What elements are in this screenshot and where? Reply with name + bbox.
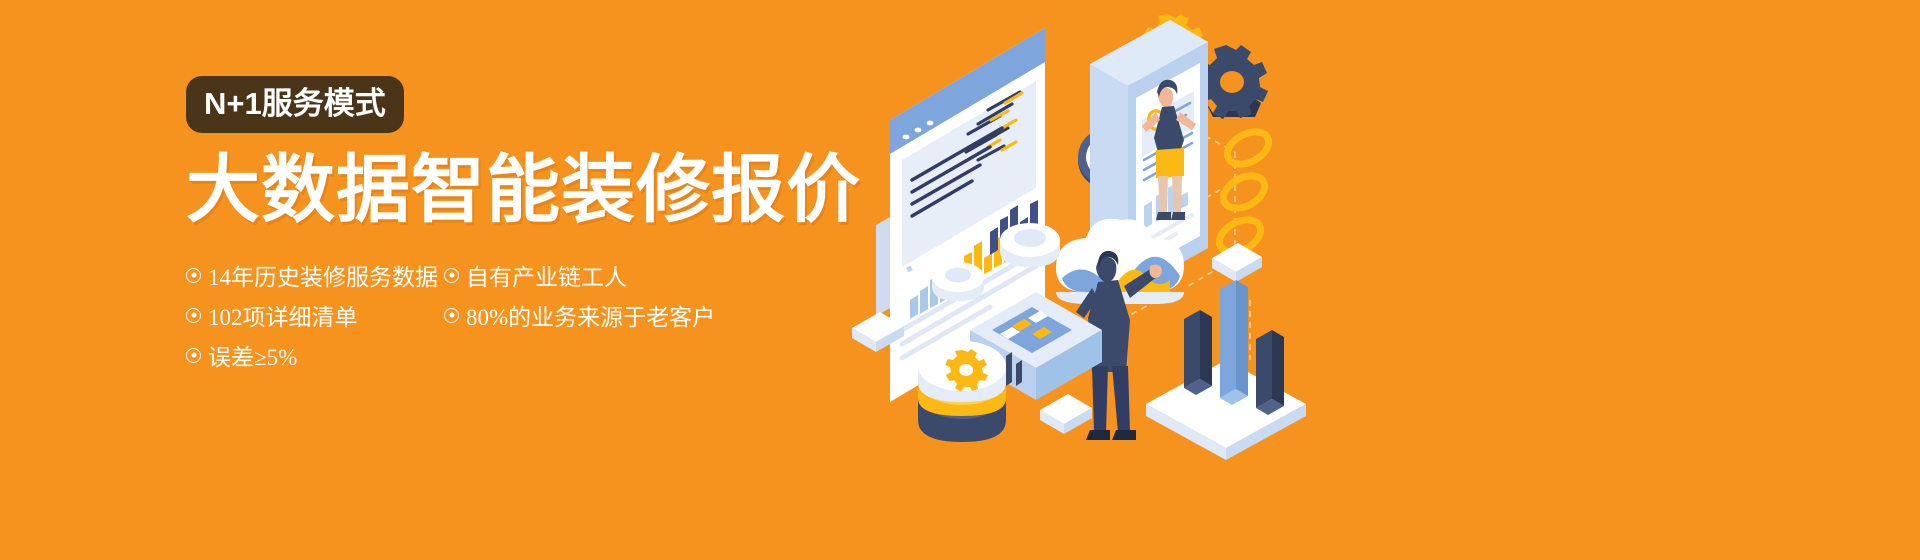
list-item: 80%的业务来源于老客户 xyxy=(444,298,886,332)
service-model-badge: N+1服务模式 xyxy=(186,76,404,133)
bullet-dot-icon xyxy=(186,268,201,283)
hero-text-block: N+1服务模式 大数据智能装修报价 14年历史装修服务数据 自有产业链工人 10… xyxy=(186,76,886,375)
isometric-illustration xyxy=(840,0,1360,560)
list-item: 102项详细清单 xyxy=(186,298,444,332)
promo-banner: N+1服务模式 大数据智能装修报价 14年历史装修服务数据 自有产业链工人 10… xyxy=(0,0,1920,560)
floating-cards-2 xyxy=(1040,394,1092,434)
list-item: 误差≥5% xyxy=(186,338,444,372)
bullet-dot-icon xyxy=(444,268,459,283)
list-item: 自有产业链工人 xyxy=(444,258,886,292)
page-title: 大数据智能装修报价 xyxy=(186,151,886,229)
feature-label: 自有产业链工人 xyxy=(466,258,627,292)
list-item: 14年历史装修服务数据 xyxy=(186,258,444,292)
feature-label: 102项详细清单 xyxy=(208,298,358,332)
bullet-dot-icon xyxy=(186,348,201,363)
bullet-dot-icon xyxy=(186,308,201,323)
bullet-dot-icon xyxy=(444,308,459,323)
feature-label: 14年历史装修服务数据 xyxy=(208,258,438,292)
feature-list: 14年历史装修服务数据 自有产业链工人 102项详细清单 80%的业务来源于老客… xyxy=(186,255,886,375)
bar-chart-platform xyxy=(1146,280,1306,460)
feature-label: 80%的业务来源于老客户 xyxy=(466,298,715,332)
ring-loop-icons xyxy=(1214,125,1274,258)
feature-label: 误差≥5% xyxy=(208,338,297,372)
